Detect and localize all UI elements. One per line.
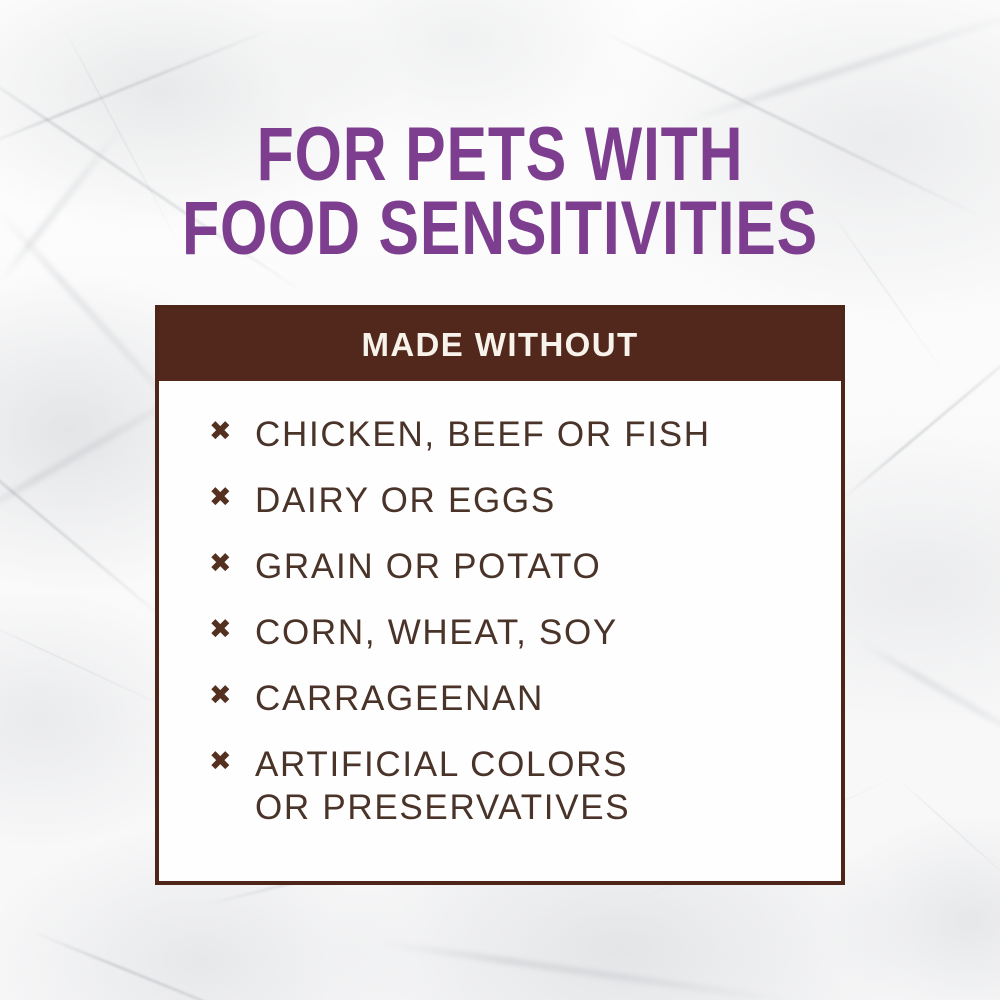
list-item-label: GRAIN OR POTATO (255, 545, 601, 588)
x-mark-icon: ✖ (209, 413, 255, 451)
list-item: ✖ CARRAGEENAN (209, 677, 841, 720)
list-item-label: CHICKEN, BEEF OR FISH (255, 413, 711, 456)
list-item: ✖ DAIRY OR EGGS (209, 479, 841, 522)
x-mark-icon: ✖ (209, 611, 255, 649)
list-item: ✖ CHICKEN, BEEF OR FISH (209, 413, 841, 456)
made-without-card: MADE WITHOUT ✖ CHICKEN, BEEF OR FISH ✖ D… (155, 305, 845, 885)
list-item-label: CORN, WHEAT, SOY (255, 611, 618, 654)
excluded-ingredients-list: ✖ CHICKEN, BEEF OR FISH ✖ DAIRY OR EGGS … (159, 381, 841, 829)
page-title: FOR PETS WITH FOOD SENSITIVITIES (100, 118, 900, 266)
list-item-label: ARTIFICIAL COLORS OR PRESERVATIVES (255, 743, 630, 829)
list-item: ✖ GRAIN OR POTATO (209, 545, 841, 588)
list-item-label: DAIRY OR EGGS (255, 479, 556, 522)
list-item: ✖ ARTIFICIAL COLORS OR PRESERVATIVES (209, 743, 841, 829)
card-header-title: MADE WITHOUT (361, 326, 638, 364)
headline-line-1: FOR PETS WITH (100, 118, 900, 192)
card-header: MADE WITHOUT (159, 309, 841, 381)
x-mark-icon: ✖ (209, 743, 255, 781)
x-mark-icon: ✖ (209, 677, 255, 715)
headline-line-2: FOOD SENSITIVITIES (100, 192, 900, 266)
list-item-label: CARRAGEENAN (255, 677, 544, 720)
list-item: ✖ CORN, WHEAT, SOY (209, 611, 841, 654)
x-mark-icon: ✖ (209, 479, 255, 517)
x-mark-icon: ✖ (209, 545, 255, 583)
infographic-stage: FOR PETS WITH FOOD SENSITIVITIES MADE WI… (0, 0, 1000, 1000)
